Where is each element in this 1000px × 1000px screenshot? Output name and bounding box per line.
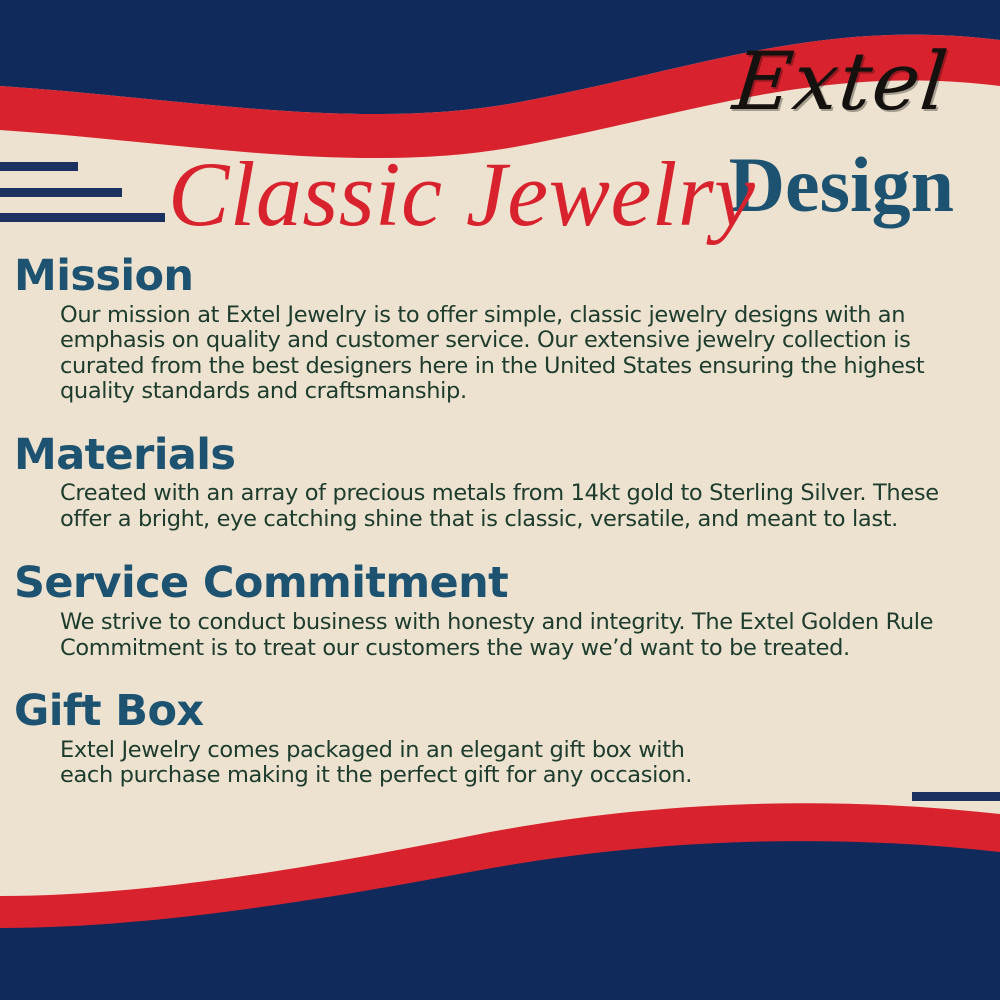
content-sections: Mission Our mission at Extel Jewelry is … <box>0 250 1000 795</box>
section-mission-heading: Mission <box>0 252 1000 302</box>
brand-script-wordmark: Extel <box>730 42 952 122</box>
section-materials: Materials Created with an array of preci… <box>0 431 1000 533</box>
section-service-commitment-body: We strive to conduct business with hones… <box>0 610 1000 661</box>
decorative-rule-bottom-right-1 <box>912 792 1000 801</box>
section-gift-box-heading: Gift Box <box>0 687 1000 737</box>
section-materials-body: Created with an array of precious metals… <box>0 481 1000 532</box>
decorative-rule-top-left-1 <box>0 162 78 171</box>
section-mission-body: Our mission at Extel Jewelry is to offer… <box>0 303 1000 405</box>
poster-header: Extel Design Classic Jewelry <box>0 0 1000 250</box>
decorative-rule-bottom-right-2 <box>869 818 1000 827</box>
section-service-commitment: Service Commitment We strive to conduct … <box>0 559 1000 661</box>
bottom-wave-red-shape <box>0 803 1000 1000</box>
decorative-rule-bottom-right-3 <box>826 843 1000 852</box>
bottom-wave-decoration <box>0 800 1000 1000</box>
section-materials-heading: Materials <box>0 431 1000 481</box>
section-mission: Mission Our mission at Extel Jewelry is … <box>0 252 1000 405</box>
section-service-commitment-heading: Service Commitment <box>0 559 1000 609</box>
section-gift-box: Gift Box Extel Jewelry comes packaged in… <box>0 687 1000 789</box>
section-gift-box-body: Extel Jewelry comes packaged in an elega… <box>0 738 1000 789</box>
page-title: Classic Jewelry <box>168 148 756 240</box>
decorative-rule-top-left-3 <box>0 213 165 222</box>
poster-canvas: Extel Design Classic Jewelry Mission Our… <box>0 0 1000 1000</box>
decorative-rule-top-left-2 <box>0 188 122 197</box>
brand-design-wordmark: Design <box>729 146 954 224</box>
bottom-wave-navy-shape <box>0 841 1000 1000</box>
